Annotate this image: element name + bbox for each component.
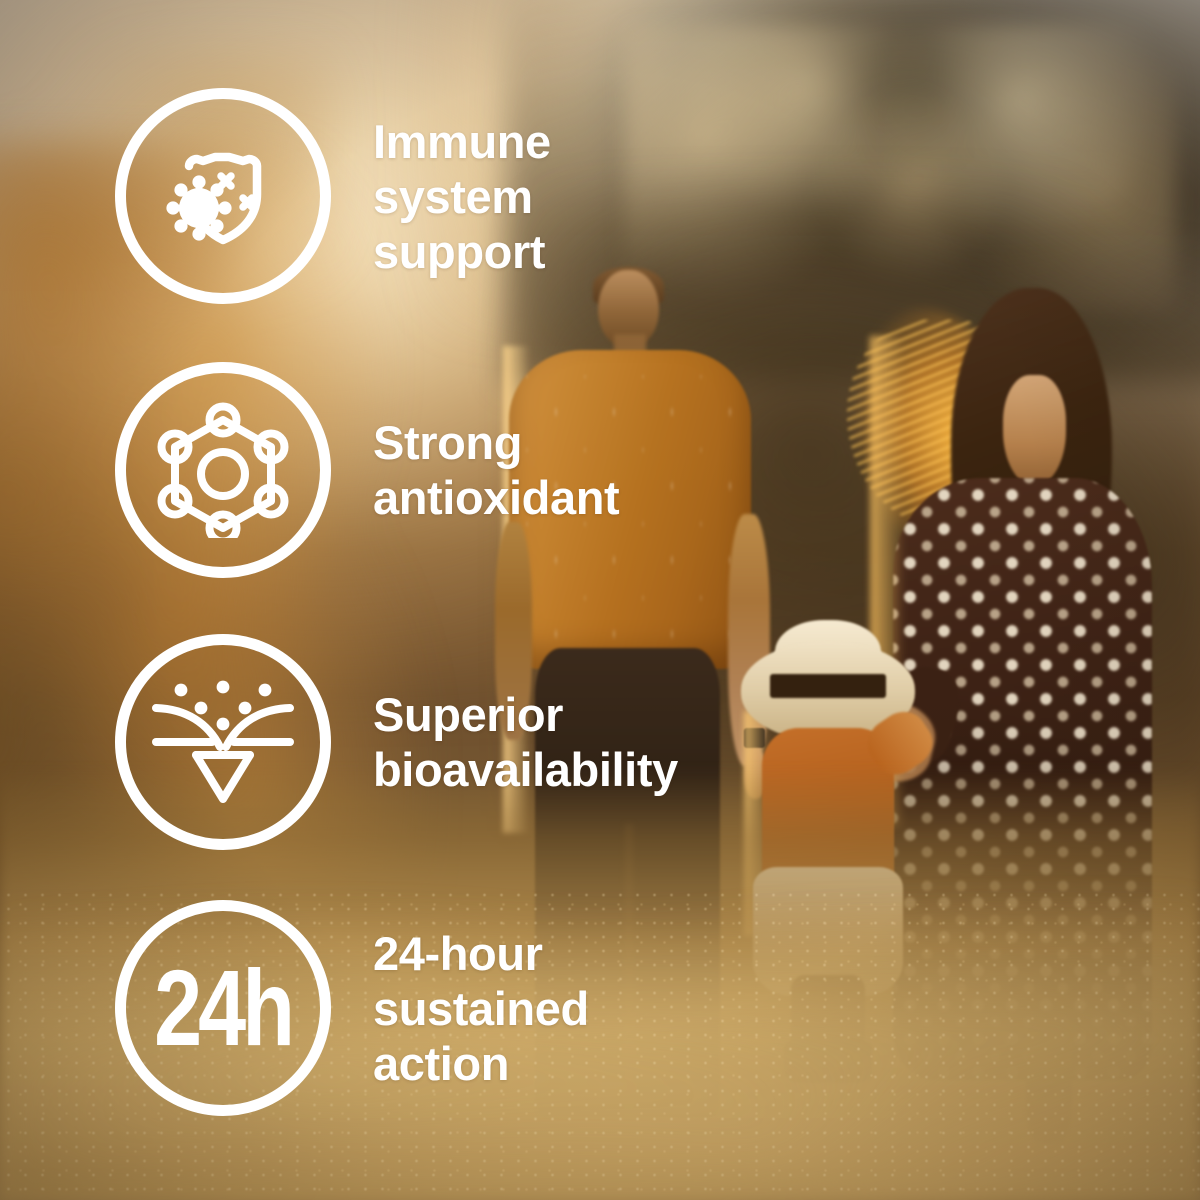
benefits-list: Immune system support	[0, 0, 1200, 1200]
benefit-badge-4: 24h	[115, 900, 331, 1116]
benefit-item-superior-bioavailability[interactable]: Superior bioavailability	[115, 634, 678, 850]
benefit-item-24-hour-sustained-action[interactable]: 24h 24-hour sustained action	[115, 900, 589, 1116]
benefit-label-1: Immune system support	[373, 114, 551, 279]
benefit-item-strong-antioxidant[interactable]: Strong antioxidant	[115, 362, 619, 578]
benefit-badge-3	[115, 634, 331, 850]
benefit-badge-1	[115, 88, 331, 304]
24h-text-icon: 24h	[155, 954, 292, 1062]
molecule-hexagon-icon	[155, 402, 291, 538]
infographic-canvas: Immune system support	[0, 0, 1200, 1200]
absorption-funnel-arrow-icon	[152, 671, 294, 813]
shield-virus-icon	[159, 132, 287, 260]
benefit-label-4: 24-hour sustained action	[373, 926, 589, 1091]
benefit-label-3: Superior bioavailability	[373, 687, 678, 797]
benefit-badge-2	[115, 362, 331, 578]
benefit-item-immune-system-support[interactable]: Immune system support	[115, 88, 551, 304]
benefit-label-2: Strong antioxidant	[373, 415, 619, 525]
